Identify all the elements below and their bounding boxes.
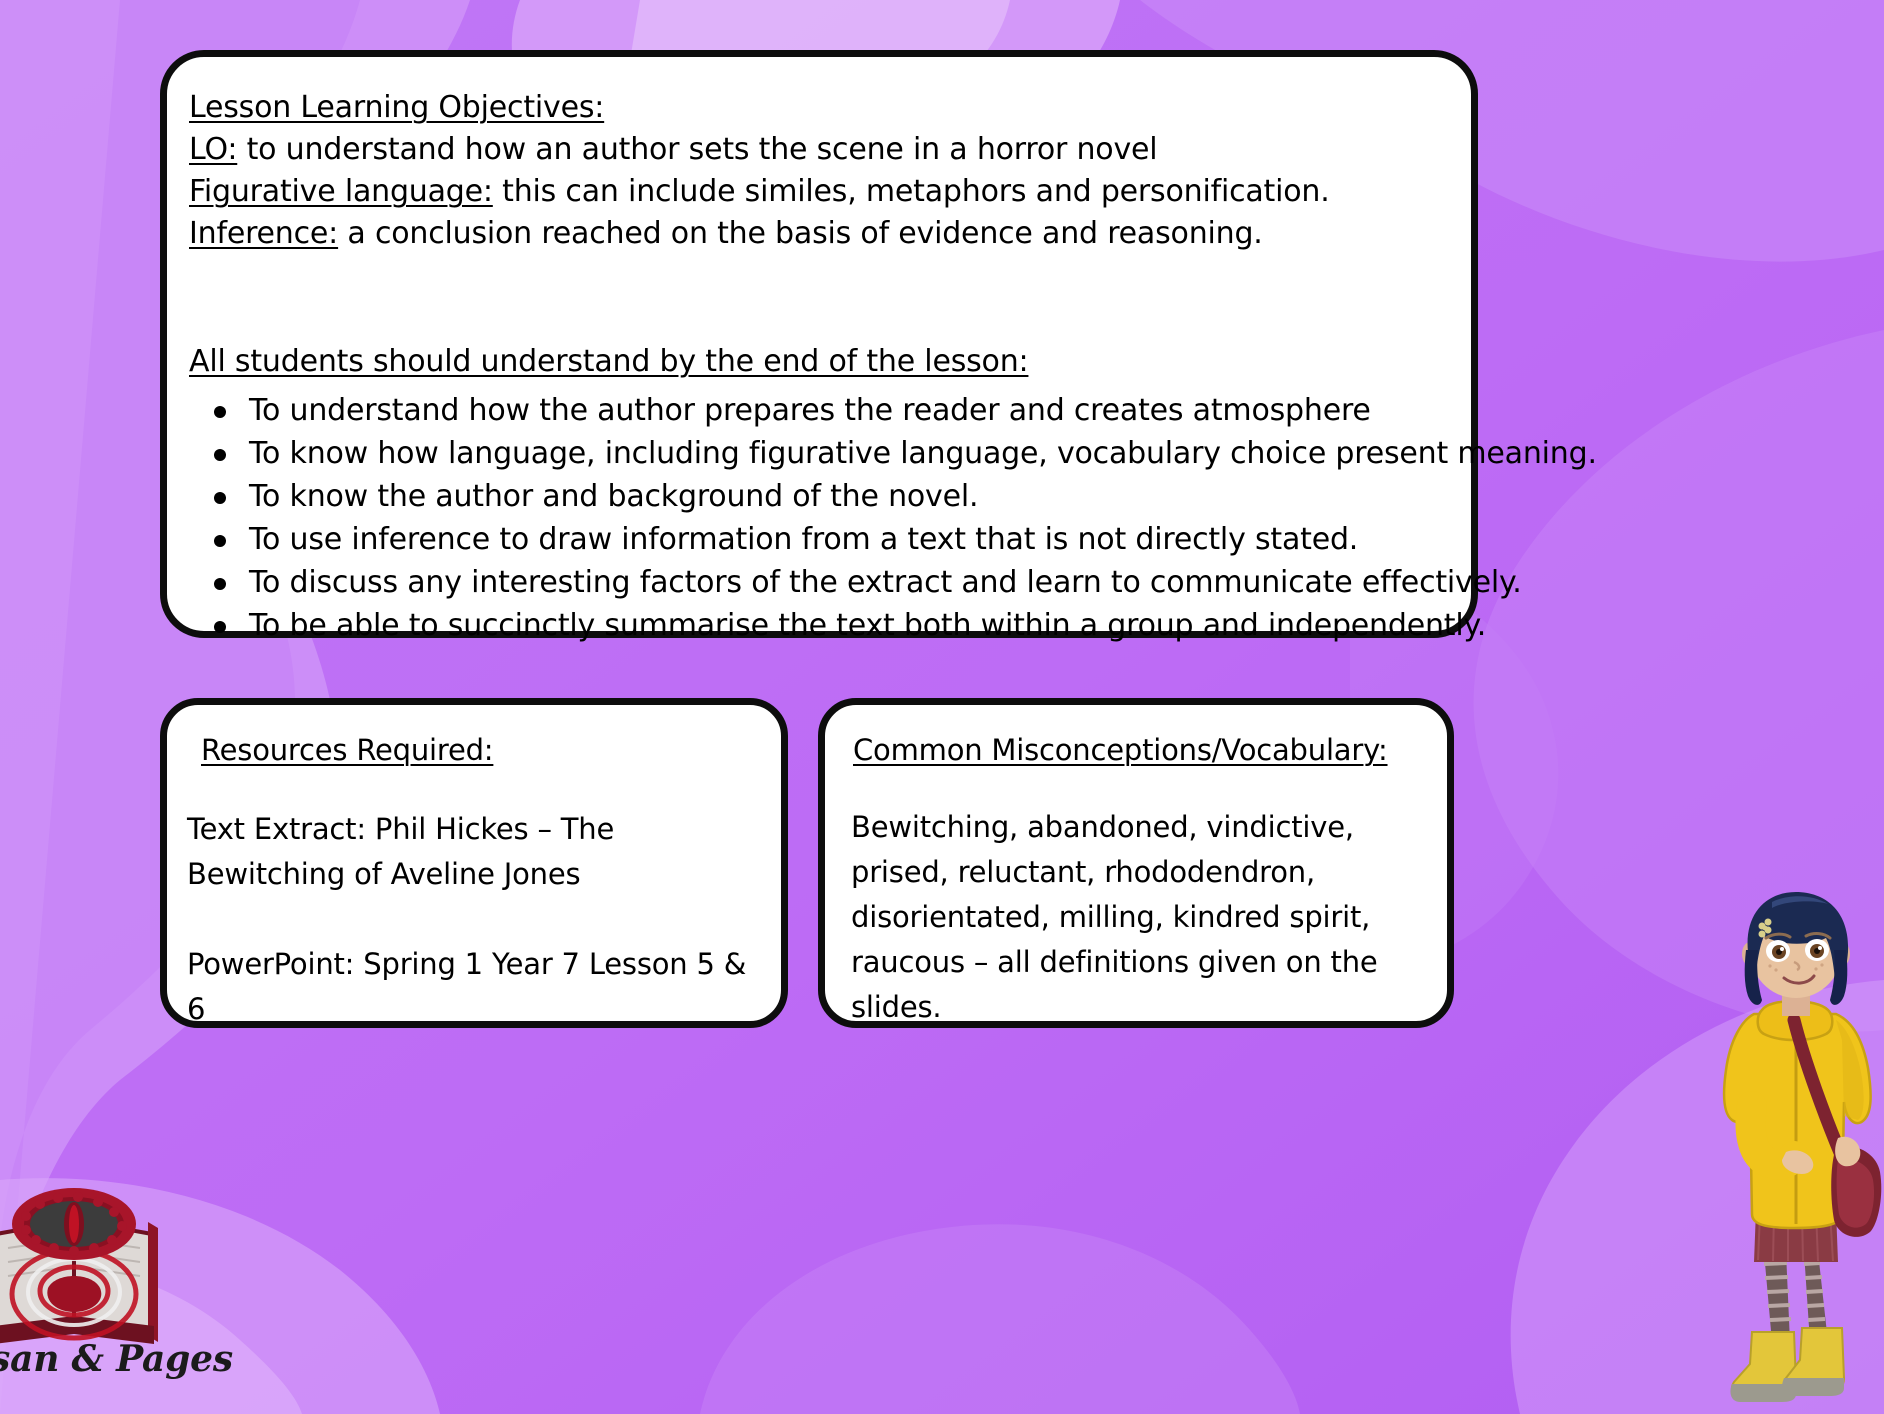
- bullet-dot-icon: [214, 492, 226, 504]
- objective-line-figurative-language: Figurative language: this can include si…: [189, 171, 1437, 213]
- bullet-dot-icon: [214, 406, 226, 418]
- objective-label-figurative-language: Figurative language:: [189, 174, 493, 209]
- objective-text-inference: a conclusion reached on the basis of evi…: [338, 216, 1263, 251]
- vocabulary-panel: Common Misconceptions/Vocabulary: Bewitc…: [818, 698, 1454, 1028]
- coraline-figure: [1686, 880, 1884, 1414]
- bullet-dot-icon: [214, 578, 226, 590]
- objective-text-lo: to understand how an author sets the sce…: [237, 132, 1157, 167]
- list-item-label: To know the author and background of the…: [249, 479, 978, 514]
- bullet-dot-icon: [214, 535, 226, 547]
- slide-canvas: Lesson Learning Objectives: LO: to under…: [0, 0, 1884, 1414]
- bullet-dot-icon: [214, 449, 226, 461]
- lesson-objectives-panel: Lesson Learning Objectives: LO: to under…: [160, 50, 1478, 638]
- objective-label-inference: Inference:: [189, 216, 338, 251]
- objective-line-inference: Inference: a conclusion reached on the b…: [189, 213, 1437, 255]
- objectives-subheading: All students should understand by the en…: [189, 341, 1437, 383]
- list-item: To understand how the author prepares th…: [189, 389, 1437, 432]
- list-item: To use inference to draw information fro…: [189, 518, 1437, 561]
- book-with-eye-icon: [0, 1176, 168, 1356]
- list-item-label: To be able to succinctly summarise the t…: [249, 608, 1486, 643]
- resources-text-extract: Text Extract: Phil Hickes – The Bewitchi…: [187, 807, 755, 897]
- objective-text-figurative-language: this can include similes, metaphors and …: [493, 174, 1330, 209]
- vocabulary-title: Common Misconceptions/Vocabulary:: [853, 731, 1421, 769]
- list-item-label: To discuss any interesting factors of th…: [249, 565, 1522, 600]
- list-item-label: To use inference to draw information fro…: [249, 522, 1358, 557]
- list-item: To know how language, including figurati…: [189, 432, 1437, 475]
- list-item-label: To understand how the author prepares th…: [249, 393, 1371, 428]
- objectives-bullet-list: To understand how the author prepares th…: [189, 389, 1437, 647]
- bullet-dot-icon: [214, 621, 226, 633]
- list-item: To know the author and background of the…: [189, 475, 1437, 518]
- resources-spacer: [187, 897, 755, 942]
- resources-title: Resources Required:: [201, 731, 755, 769]
- objective-label-lo: LO:: [189, 132, 237, 167]
- resources-body: Text Extract: Phil Hickes – The Bewitchi…: [187, 807, 755, 1032]
- list-item-label: To know how language, including figurati…: [249, 436, 1597, 471]
- objective-line-lo: LO: to understand how an author sets the…: [189, 129, 1437, 171]
- objectives-heading: Lesson Learning Objectives:: [189, 87, 1437, 129]
- vocabulary-terms: Bewitching, abandoned, vindictive, prise…: [851, 805, 1421, 1030]
- resources-powerpoint: PowerPoint: Spring 1 Year 7 Lesson 5 & 6: [187, 942, 755, 1032]
- list-item: To be able to succinctly summarise the t…: [189, 604, 1437, 647]
- resources-required-panel: Resources Required: Text Extract: Phil H…: [160, 698, 788, 1028]
- vocabulary-body: Bewitching, abandoned, vindictive, prise…: [851, 805, 1421, 1030]
- logo-wordmark: san & Pages: [0, 1338, 233, 1380]
- list-item: To discuss any interesting factors of th…: [189, 561, 1437, 604]
- objectives-spacer: [189, 255, 1437, 341]
